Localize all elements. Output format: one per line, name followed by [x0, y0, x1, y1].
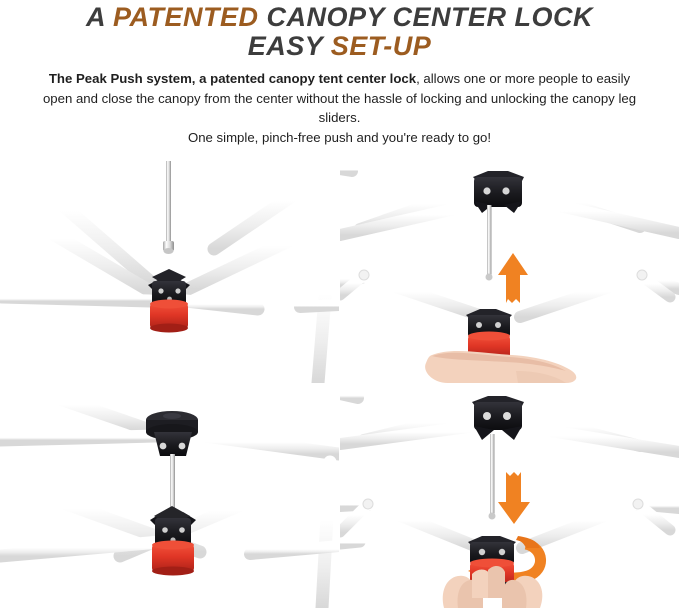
red-base: [152, 541, 194, 576]
canopy-frame-step-2-svg: [340, 157, 679, 383]
headline-line-1: A PATENTED CANOPY CENTER LOCK: [0, 3, 679, 32]
headline-part-a: A: [86, 2, 113, 32]
panel-step-1: [0, 157, 339, 383]
headline-accent-setup: SET-UP: [331, 31, 432, 61]
product-image-grid: [0, 157, 679, 607]
panel-step-3: [0, 384, 339, 608]
panel-step-4: [340, 384, 679, 608]
panel-step-2: [340, 157, 679, 383]
headline-part-b: CANOPY CENTER LOCK: [258, 2, 593, 32]
canopy-frame-step-1-svg: [0, 157, 339, 383]
red-base: [150, 300, 188, 333]
canopy-frame-step-3-svg: [0, 384, 339, 608]
description-paragraph: The Peak Push system, a patented canopy …: [0, 69, 679, 147]
panel-step-2-illustration: [340, 157, 679, 383]
top-hub: [473, 171, 524, 213]
headline-accent-patented: PATENTED: [113, 2, 259, 32]
page-title: A PATENTED CANOPY CENTER LOCK EASY SET-U…: [0, 3, 679, 61]
description-final-line: One simple, pinch-free push and you're r…: [188, 130, 491, 145]
headline-part-c: EASY: [248, 31, 331, 61]
panel-step-4-illustration: [340, 384, 679, 608]
panel-step-1-illustration: [0, 157, 339, 383]
headline-line-2: EASY SET-UP: [0, 32, 679, 61]
header-section: A PATENTED CANOPY CENTER LOCK EASY SET-U…: [0, 0, 679, 147]
description-bold-lead: The Peak Push system, a patented canopy …: [49, 71, 416, 86]
panel-step-3-illustration: [0, 384, 339, 608]
canopy-frame-step-4-svg: [340, 384, 679, 608]
